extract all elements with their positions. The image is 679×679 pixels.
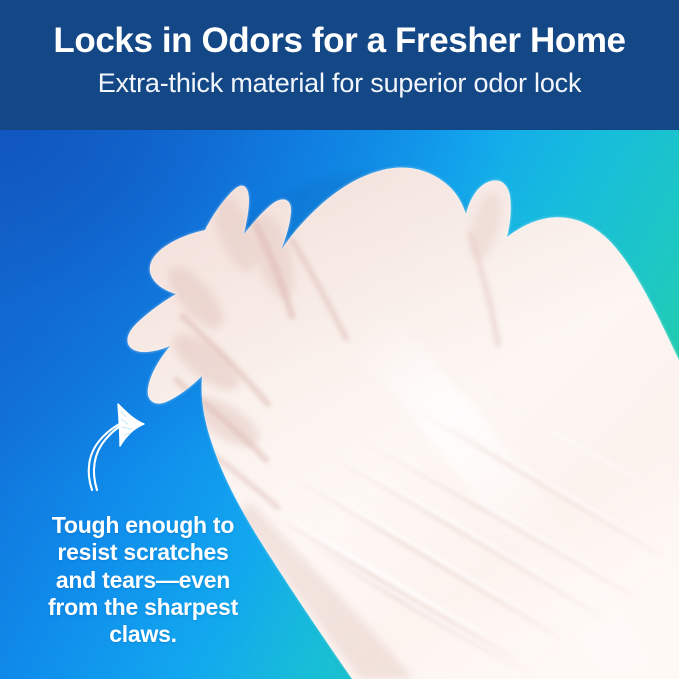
callout-line: from the sharpest bbox=[22, 594, 264, 621]
product-photo: Tough enough to resist scratches and tea… bbox=[0, 130, 679, 679]
headline: Locks in Odors for a Fresher Home bbox=[53, 22, 625, 60]
curved-arrow-icon bbox=[74, 398, 170, 494]
subheadline: Extra-thick material for superior odor l… bbox=[98, 69, 582, 99]
header-bar: Locks in Odors for a Fresher Home Extra-… bbox=[0, 0, 679, 130]
product-feature-banner: Locks in Odors for a Fresher Home Extra-… bbox=[0, 0, 679, 679]
callout-line: and tears—even bbox=[22, 567, 264, 594]
callout-text: Tough enough to resist scratches and tea… bbox=[22, 512, 264, 649]
callout-line: resist scratches bbox=[22, 539, 264, 566]
callout-line: claws. bbox=[22, 621, 264, 648]
callout-line: Tough enough to bbox=[22, 512, 264, 539]
